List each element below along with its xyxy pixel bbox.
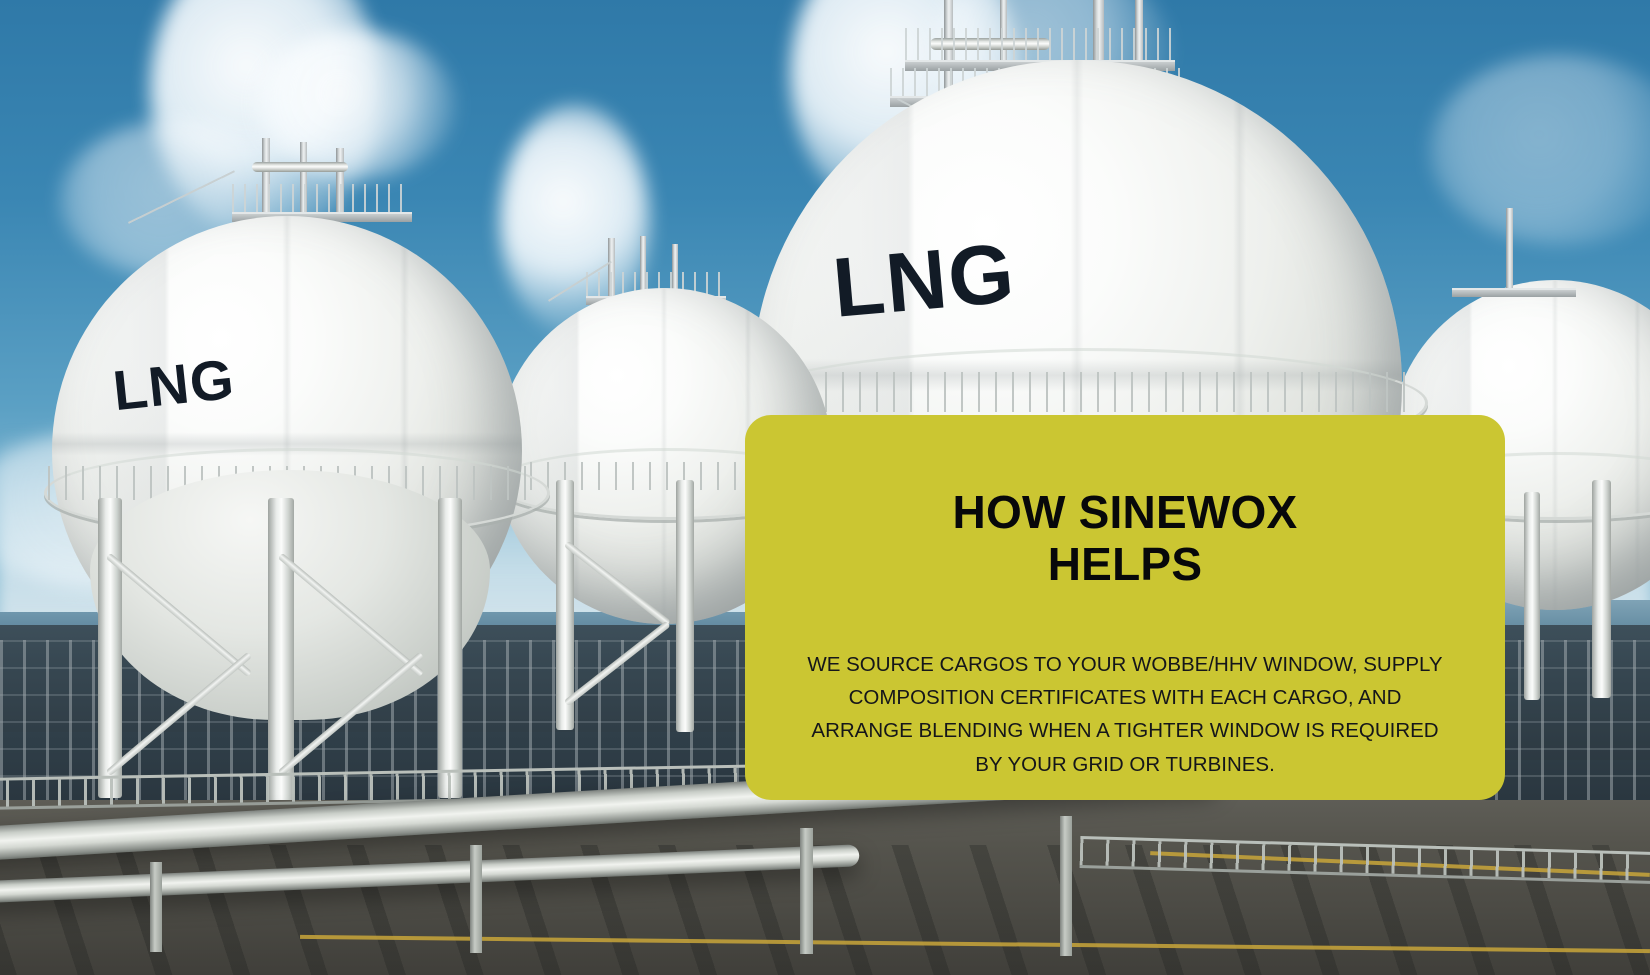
tank-middle-leg-1 (556, 480, 574, 730)
tank-right-leg-2 (1592, 480, 1611, 698)
tank-main-top-railing (905, 28, 1175, 60)
tank-middle-leg-2 (676, 480, 694, 732)
tank-left-leg-3 (438, 498, 462, 798)
pipe-support-2 (470, 845, 482, 953)
tank-right-vent-stack (1506, 208, 1513, 294)
card-body-text: WE SOURCE CARGOS TO YOUR WOBBE/HHV WINDO… (805, 648, 1445, 781)
pipe-support-3 (800, 828, 813, 954)
tank-right-top-platform (1452, 288, 1576, 297)
tank-left-top-railing (232, 184, 412, 212)
tank-left-leg-1 (98, 498, 122, 798)
pipe-support-1 (150, 862, 162, 952)
tank-right-leg-3 (1524, 492, 1540, 700)
tank-left-top-pipe (252, 162, 348, 172)
card-title: HOW SINEWOX HELPS (890, 487, 1360, 590)
slide-canvas: LNG LNG (0, 0, 1650, 975)
tank-main-label: LNG (829, 224, 1019, 337)
info-card: HOW SINEWOX HELPS WE SOURCE CARGOS TO YO… (745, 415, 1505, 800)
tank-left-label: LNG (110, 346, 238, 423)
tank-main-walkway-posts (740, 372, 1416, 412)
pipe-support-4 (1060, 816, 1072, 956)
